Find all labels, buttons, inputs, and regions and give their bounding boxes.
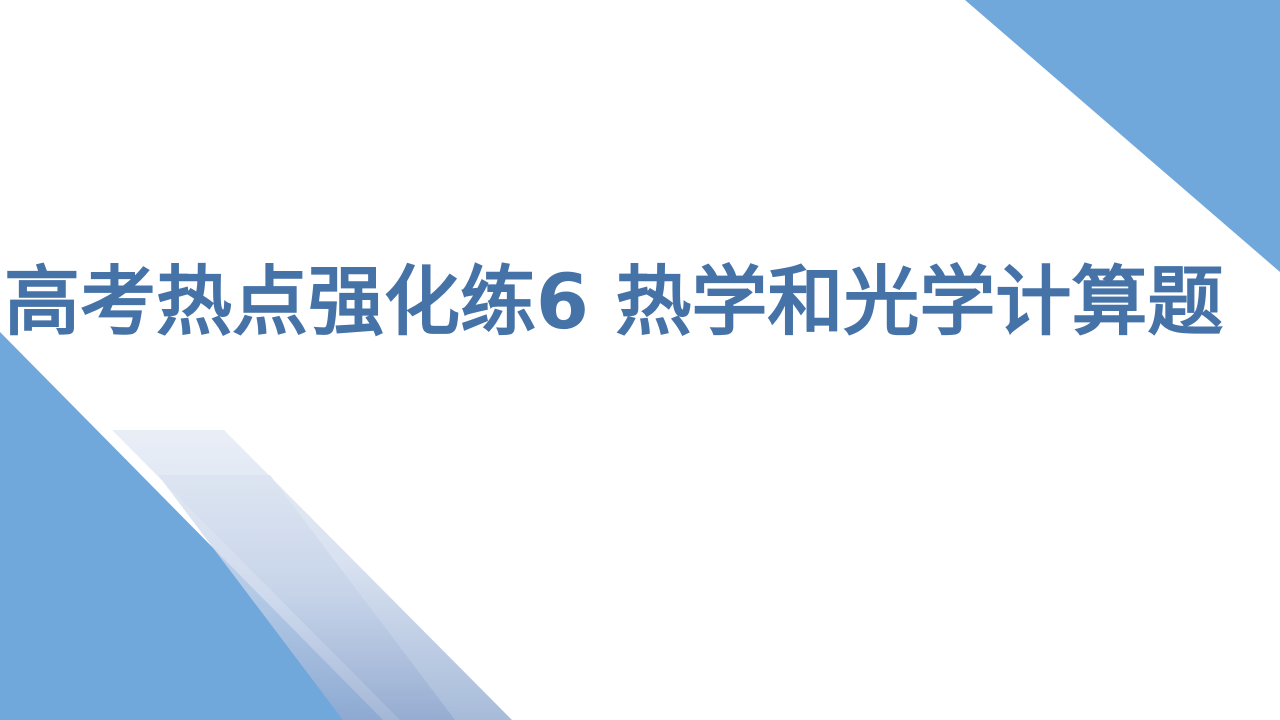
slide-canvas: 高考热点强化练6 热学和光学计算题 [0, 0, 1280, 720]
bottom-left-band-inner [158, 475, 455, 720]
bottom-left-accent-triangle [0, 332, 383, 720]
top-right-accent-triangle [965, 0, 1280, 272]
decorative-background [0, 0, 1280, 720]
bottom-left-band-outer [112, 430, 512, 720]
slide-title-block: 高考热点强化练6 热学和光学计算题 [0, 252, 1280, 352]
slide-title: 高考热点强化练6 热学和光学计算题 [0, 264, 1223, 340]
